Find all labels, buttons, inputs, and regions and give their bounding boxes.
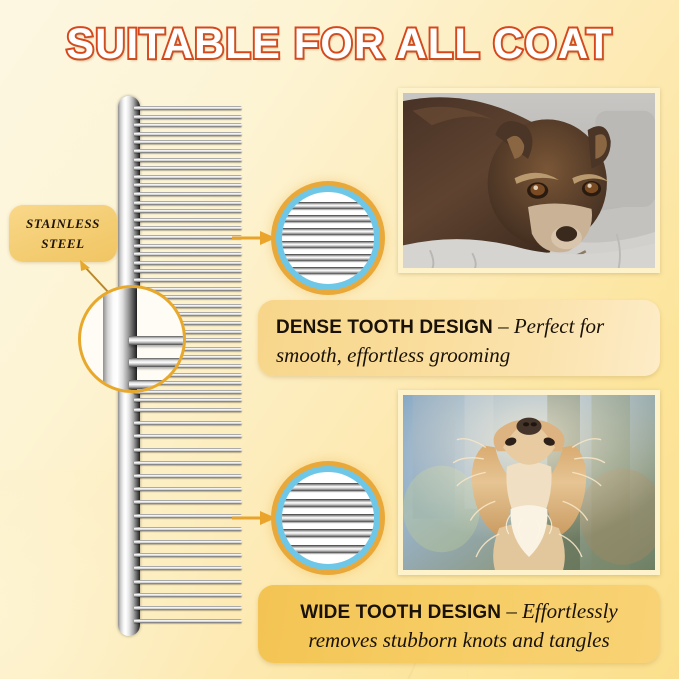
comb-tooth-wide	[134, 408, 242, 412]
magnified-tooth-wide	[276, 529, 380, 537]
comb-tooth-wide	[134, 606, 242, 610]
dense-tooth-caption-card: DENSE TOOTH DESIGN – Perfect for smooth,…	[258, 300, 660, 376]
comb-tooth-dense	[134, 140, 242, 144]
product-feature-poster: SUITABLE FOR ALL COAT STAINLESS STEEL	[0, 0, 679, 679]
comb-tooth-dense	[134, 209, 242, 213]
stainless-steel-badge: STAINLESS STEEL	[9, 205, 117, 262]
wide-tooth-magnifier	[276, 466, 380, 570]
comb-tooth-dense	[134, 261, 242, 265]
comb-spine-highlight-circle	[78, 285, 186, 393]
comb-tooth-dense	[134, 278, 242, 282]
comb-tooth-dense	[134, 252, 242, 256]
comb-tooth-dense	[134, 201, 242, 205]
comb-tooth-dense	[134, 106, 242, 110]
comb-tooth-wide	[134, 527, 242, 531]
wide-caption-desc-2: removes stubborn knots and tangles	[308, 628, 609, 652]
magnified-tooth-dense	[276, 202, 380, 209]
comb-tooth-dense	[134, 123, 242, 127]
dense-tooth-magnifier	[276, 186, 380, 290]
comb-tooth-wide	[134, 434, 242, 438]
comb-tooth-wide	[134, 487, 242, 491]
comb-tooth-dense	[134, 192, 242, 196]
dense-caption-desc-2: smooth, effortless grooming	[276, 343, 510, 367]
dense-caption-desc-1: Perfect for	[514, 314, 604, 338]
comb-tooth-dense	[134, 166, 242, 170]
comb-tooth-dense	[134, 235, 242, 239]
comb-spine-zoom-tooth	[129, 358, 186, 367]
comb-tooth-wide	[134, 474, 242, 478]
page-title: SUITABLE FOR ALL COAT	[10, 20, 669, 69]
comb-tooth-wide	[134, 421, 242, 425]
comb-tooth-wide	[134, 593, 242, 597]
dense-caption-title: DENSE TOOTH DESIGN	[276, 317, 493, 338]
dense-caption-dash: –	[493, 314, 514, 338]
comb-tooth-dense	[134, 218, 242, 222]
comb-tooth-wide	[134, 461, 242, 465]
comb-tooth-dense	[134, 269, 242, 273]
wide-caption-dash: –	[501, 599, 522, 623]
comb-tooth-wide	[134, 566, 242, 570]
magnified-tooth-dense	[276, 228, 380, 235]
comb-tooth-dense	[134, 132, 242, 136]
photo-dog-looking-up-outdoors	[398, 390, 660, 575]
comb-spine-zoom-tooth	[129, 336, 186, 345]
comb-tooth-dense	[134, 158, 242, 162]
comb-tooth-dense	[134, 183, 242, 187]
comb-tooth-dense	[134, 226, 242, 230]
wide-caption-line-1: WIDE TOOTH DESIGN – Effortlessly	[276, 597, 642, 626]
comb-tooth-wide	[134, 553, 242, 557]
comb-tooth-wide	[134, 619, 242, 623]
comb-tooth-wide	[134, 514, 242, 518]
comb-tooth-wide	[134, 540, 242, 544]
magnified-tooth-dense	[276, 267, 380, 274]
wide-tooth-caption-card: WIDE TOOTH DESIGN – Effortlessly removes…	[258, 585, 660, 663]
magnified-tooth-wide	[276, 499, 380, 507]
magnified-tooth-wide	[276, 514, 380, 522]
steel-badge-line-2: STEEL	[41, 234, 84, 254]
comb-spine-zoom-tooth	[129, 380, 186, 389]
magnified-tooth-dense	[276, 241, 380, 248]
dense-caption-line-2: smooth, effortless grooming	[276, 341, 642, 370]
wide-caption-title: WIDE TOOTH DESIGN	[300, 602, 501, 623]
dense-callout-arrow-icon	[232, 228, 276, 248]
comb-tooth-dense	[134, 244, 242, 248]
comb-tooth-wide	[134, 448, 242, 452]
photo-dog-resting-on-couch	[398, 88, 660, 273]
magnified-tooth-dense	[276, 215, 380, 222]
comb-tooth-dense	[134, 390, 242, 394]
steel-badge-line-1: STAINLESS	[26, 214, 100, 234]
wide-callout-arrow-icon	[232, 508, 276, 528]
comb-tooth-wide	[134, 500, 242, 504]
dense-caption-line-1: DENSE TOOTH DESIGN – Perfect for	[276, 312, 642, 341]
comb-tooth-dense	[134, 175, 242, 179]
wide-caption-desc-1: Effortlessly	[522, 599, 618, 623]
comb-tooth-dense	[134, 149, 242, 153]
magnified-tooth-dense	[276, 254, 380, 261]
comb-tooth-dense	[134, 115, 242, 119]
comb-tooth-dense	[134, 398, 242, 402]
magnified-tooth-wide	[276, 545, 380, 553]
comb-tooth-wide	[134, 580, 242, 584]
magnified-tooth-wide	[276, 483, 380, 491]
wide-caption-line-2: removes stubborn knots and tangles	[276, 626, 642, 655]
